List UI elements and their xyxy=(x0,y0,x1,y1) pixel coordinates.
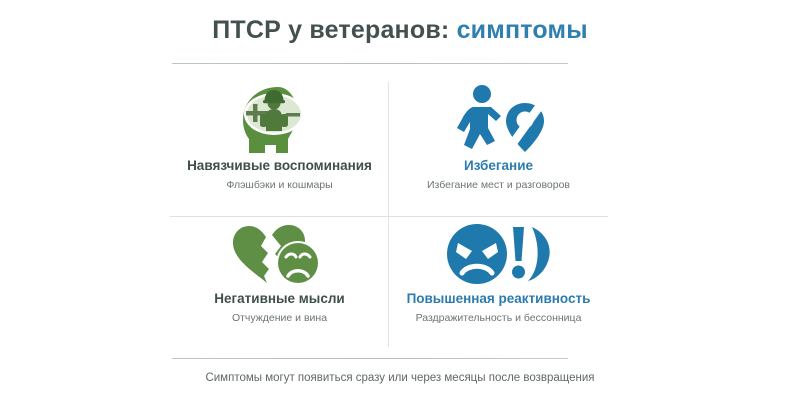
quadrant-title: Навязчивые воспоминания xyxy=(187,158,372,174)
quadrant-subtitle: Раздражительность и бессонница xyxy=(416,312,582,325)
quadrant-subtitle: Отчуждение и вина xyxy=(232,312,327,325)
footer-note: Симптомы могут появиться сразу или через… xyxy=(0,370,800,386)
walking-person-no-location-icon xyxy=(449,80,549,158)
head-with-soldier-thought-icon xyxy=(232,80,328,158)
title-text: ПТСР у ветеранов: симптомы xyxy=(0,14,800,46)
angry-face-exclamation-moon-icon xyxy=(444,217,554,291)
quadrant-hyperarousal[interactable]: Повышенная реактивность Раздражительност… xyxy=(389,217,608,351)
quadrant-avoidance[interactable]: Избегание Избегание мест и разговоров xyxy=(389,80,608,214)
title-accent: симптомы xyxy=(457,16,588,44)
broken-heart-sad-face-icon xyxy=(228,217,332,291)
quadrant-title: Негативные мысли xyxy=(214,291,344,307)
ptsd-symptoms-infographic: ПТСР у ветеранов: симптомы xyxy=(0,0,800,400)
page-title: ПТСР у ветеранов: симптомы xyxy=(0,14,800,46)
quadrant-subtitle: Избегание мест и разговоров xyxy=(427,179,570,192)
quadrant-subtitle: Флэшбэки и кошмары xyxy=(226,179,332,192)
quadrant-intrusive-memories[interactable]: Навязчивые воспоминания Флэшбэки и кошма… xyxy=(170,80,389,214)
quadrant-title: Избегание xyxy=(464,158,533,174)
quadrant-title: Повышенная реактивность xyxy=(407,291,591,307)
title-main: ПТСР у ветеранов: xyxy=(212,16,449,44)
footer-divider xyxy=(172,358,568,359)
symptom-grid: Навязчивые воспоминания Флэшбэки и кошма… xyxy=(170,80,608,348)
title-divider xyxy=(172,63,568,64)
quadrant-negative-thoughts[interactable]: Негативные мысли Отчуждение и вина xyxy=(170,217,389,351)
